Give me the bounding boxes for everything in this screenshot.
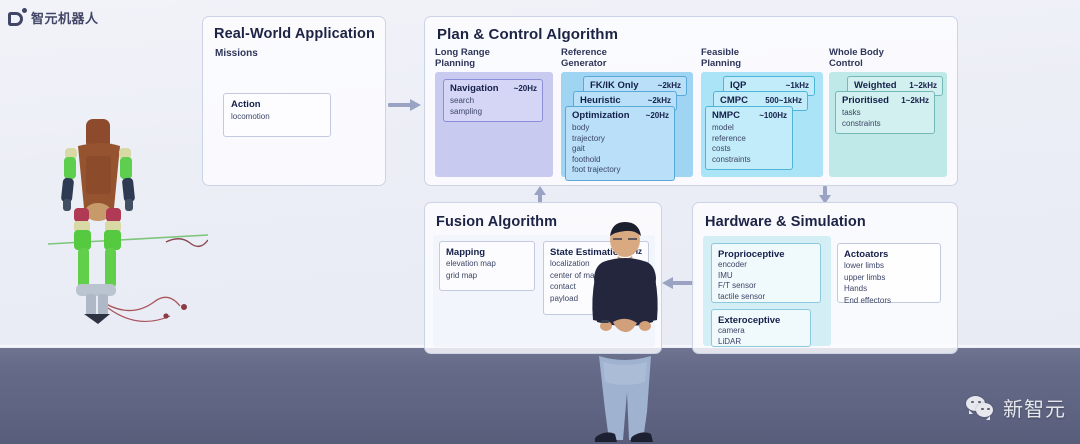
presentation-stage: 智元机器人	[0, 0, 1080, 444]
stage-floor	[0, 348, 1080, 444]
action-card-title: Action	[231, 99, 323, 110]
card-exteroceptive-title: Exteroceptive	[718, 315, 804, 326]
plan-control-algorithm-panel: Plan & Control Algorithm Long Range Plan…	[424, 16, 958, 186]
real-world-application-panel: Real-World Application Missions Action l…	[202, 16, 386, 186]
column-body-feasible-planning: IQP ~1kHz CMPC 500~1kHz NMPC ~100Hz mode…	[701, 72, 823, 177]
humanoid-robot-illustration	[48, 104, 208, 334]
card-nmpc: NMPC ~100Hz model reference costs constr…	[705, 106, 793, 170]
card-navigation: Navigation ~20Hz search sampling	[443, 79, 543, 122]
action-card: Action locomotion	[223, 93, 331, 137]
card-prioritised: Prioritised 1~2kHz tasks constraints	[835, 91, 935, 134]
page-title-plan-control: Plan & Control Algorithm	[437, 26, 618, 43]
card-mapping: Mapping elevation map grid map	[439, 241, 535, 291]
column-body-whole-body-control: Weighted 1~2kHz Prioritised 1~2kHz tasks…	[829, 72, 947, 177]
missions-label: Missions	[215, 48, 258, 59]
agibot-logo-icon	[8, 10, 26, 26]
wechat-icon	[966, 396, 996, 420]
column-label-feasible-planning: Feasible Planning	[701, 47, 741, 69]
brand-logo-text: 智元机器人	[31, 8, 99, 27]
column-body-long-range-planning: Navigation ~20Hz search sampling	[435, 72, 553, 177]
card-exteroceptive: Exteroceptive camera LiDAR	[711, 309, 811, 347]
action-card-item: locomotion	[231, 112, 323, 121]
column-label-reference-generator: Reference Generator	[561, 47, 607, 69]
wechat-watermark: 新智元	[966, 393, 1066, 422]
page-title-real-world-application: Real-World Application	[214, 26, 375, 42]
watermark-text: 新智元	[1003, 393, 1066, 422]
column-label-whole-body-control: Whole Body Control	[829, 47, 884, 69]
hardware-simulation-panel: Hardware & Simulation Proprioceptive enc…	[692, 202, 958, 354]
column-body-reference-generator: FK/IK Only ~2kHz Heuristic ~2kHz Optimiz…	[561, 72, 693, 177]
card-proprioceptive-title: Proprioceptive	[718, 249, 814, 260]
card-actuators: Actoators lower limbs upper limbs Hands …	[837, 243, 941, 303]
card-optimization: Optimization ~20Hz body trajectory gait …	[565, 106, 675, 181]
arrow-rwa-to-plan	[388, 95, 422, 115]
page-title-hardware-simulation: Hardware & Simulation	[705, 214, 866, 230]
brand-logo: 智元机器人	[8, 8, 99, 27]
presenter	[575, 222, 675, 444]
column-label-long-range-planning: Long Range Planning	[435, 47, 490, 69]
card-actuators-title: Actoators	[844, 249, 934, 260]
card-mapping-title: Mapping	[446, 247, 528, 258]
page-title-fusion-algorithm: Fusion Algorithm	[436, 214, 557, 230]
card-proprioceptive: Proprioceptive encoder IMU F/T sensor ta…	[711, 243, 821, 303]
